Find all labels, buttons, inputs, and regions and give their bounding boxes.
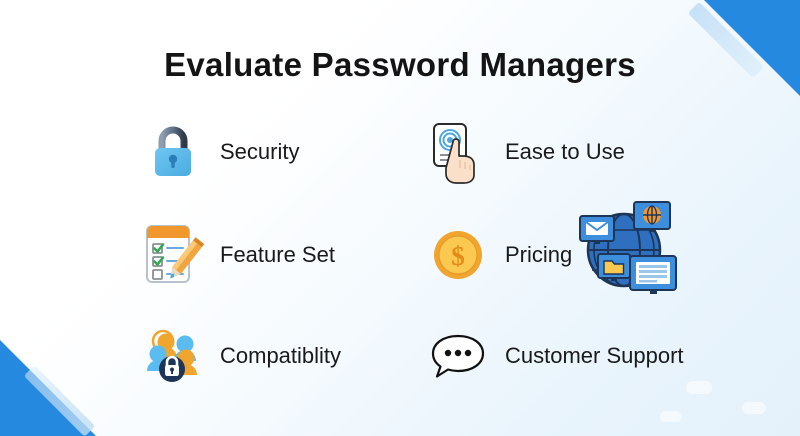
feature-grid: Security (140, 104, 720, 402)
slide-canvas: Evaluate Password Managers (0, 0, 800, 436)
feature-item-customer-support[interactable]: Customer Support (425, 310, 720, 402)
svg-text:$: $ (451, 241, 465, 271)
hand-touch-screen-icon (425, 116, 491, 188)
padlock-icon (140, 116, 206, 188)
feature-label: Pricing (505, 242, 572, 268)
feature-label: Feature Set (220, 242, 335, 268)
feature-item-compatiblity[interactable]: Compatiblity (140, 310, 425, 402)
speech-bubble-dots-icon (425, 320, 491, 392)
feature-label: Compatiblity (220, 343, 341, 369)
feature-label: Security (220, 139, 299, 165)
background-blob (660, 411, 682, 422)
checklist-pencil-icon (140, 219, 206, 291)
feature-item-security[interactable]: Security (140, 104, 425, 200)
feature-label: Ease to Use (505, 139, 625, 165)
dollar-coin-icon: $ (425, 219, 491, 291)
users-lock-icon (140, 320, 206, 392)
page-title: Evaluate Password Managers (0, 46, 800, 84)
feature-item-ease-to-use[interactable]: Ease to Use (425, 104, 720, 200)
background-blob (742, 402, 766, 414)
feature-item-feature-set[interactable]: Feature Set (140, 200, 425, 310)
feature-item-pricing[interactable]: $ Pricing (425, 200, 720, 310)
feature-label: Customer Support (505, 343, 684, 369)
